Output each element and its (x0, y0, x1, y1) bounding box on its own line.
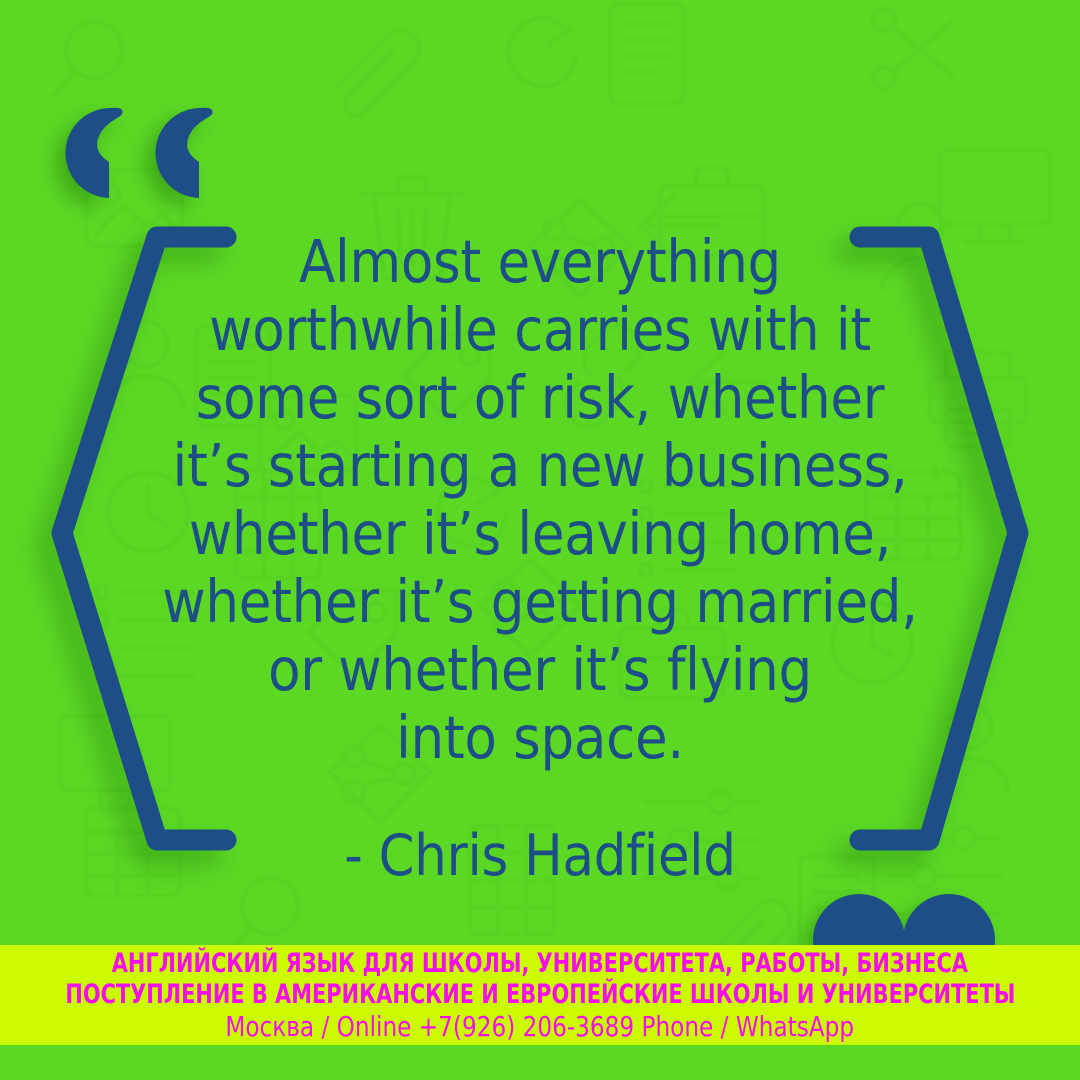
quote-text: Almost everything worthwhile carries wit… (110, 228, 970, 772)
double-quote-open-icon (62, 96, 246, 198)
quote-block: Almost everything worthwhile carries wit… (110, 228, 970, 888)
quote-author: - Chris Hadfield (110, 824, 970, 888)
promo-line-2: ПОСТУПЛЕНИЕ В АМЕРИКАНСКИЕ И ЕВРОПЕЙСКИЕ… (65, 979, 1015, 1010)
promo-contact-line: Москва / Online +7(926) 206-3689 Phone /… (226, 1010, 855, 1043)
quote-poster: Almost everything worthwhile carries wit… (0, 0, 1080, 1080)
promo-banner: АНГЛИЙСКИЙ ЯЗЫК ДЛЯ ШКОЛЫ, УНИВЕРСИТЕТА,… (0, 945, 1080, 1045)
promo-line-1: АНГЛИЙСКИЙ ЯЗЫК ДЛЯ ШКОЛЫ, УНИВЕРСИТЕТА,… (112, 948, 968, 979)
